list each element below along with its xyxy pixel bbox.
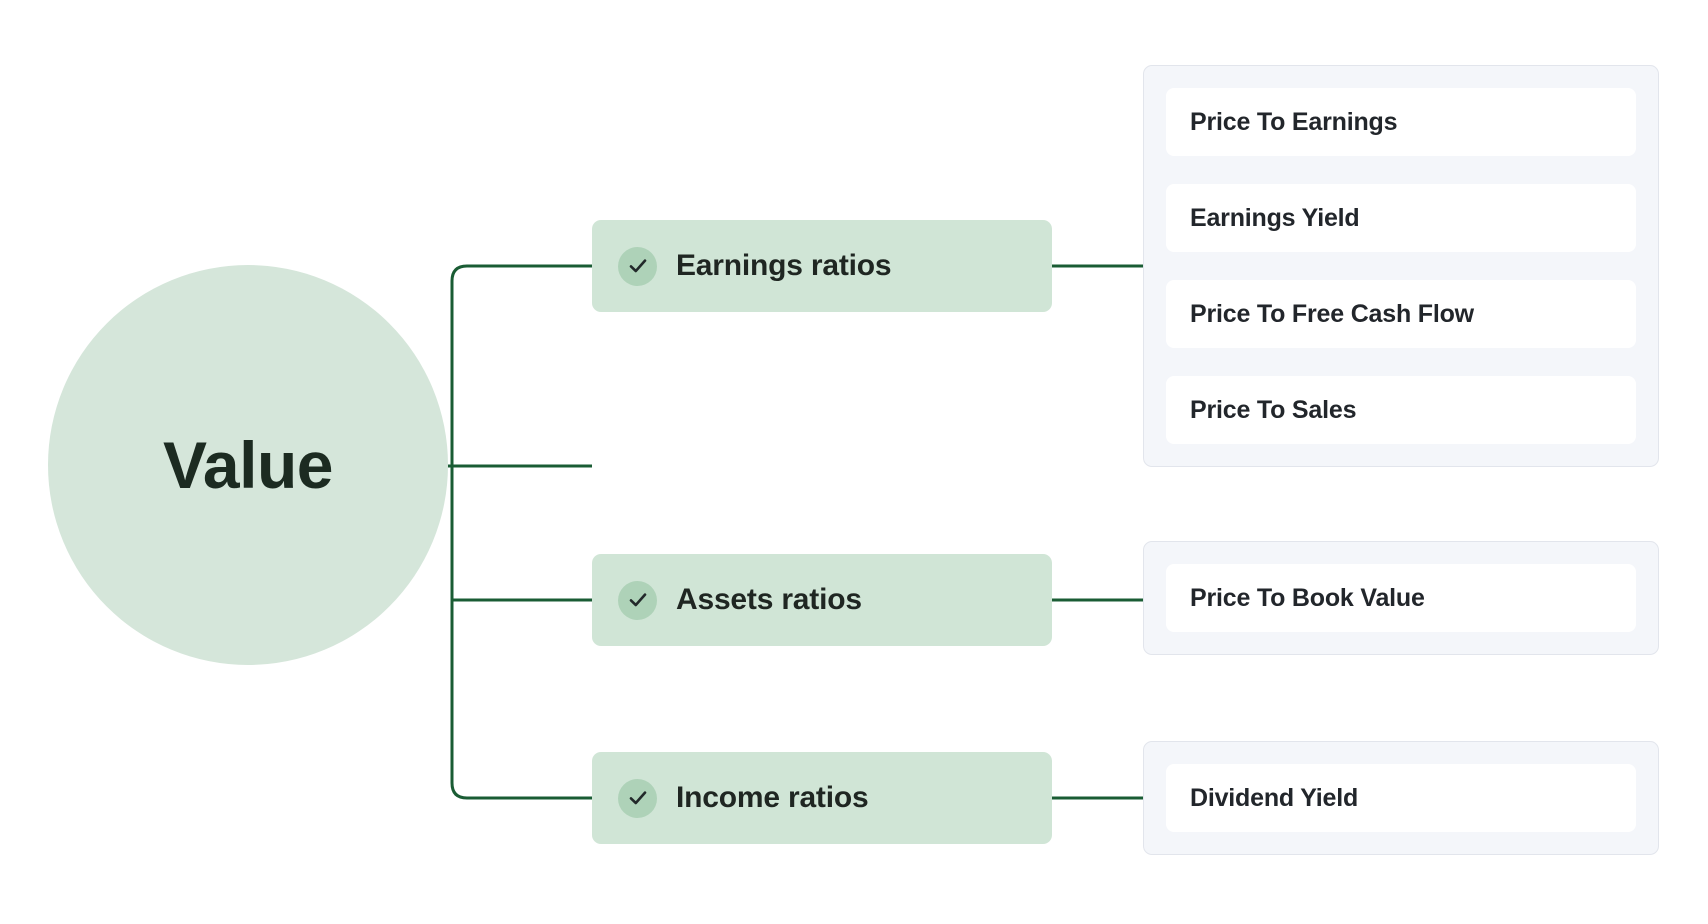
root-node-value[interactable]: Value bbox=[48, 265, 448, 665]
check-circle-icon bbox=[618, 247, 657, 286]
root-node-label: Value bbox=[163, 432, 333, 498]
mind-map-canvas: Value Earnings ratios Assets ratios Inco… bbox=[0, 0, 1708, 924]
leaf-card[interactable]: Price To Earnings bbox=[1166, 88, 1636, 156]
branch-node-label: Income ratios bbox=[676, 781, 868, 815]
check-circle-icon bbox=[618, 779, 657, 818]
leaf-panel-assets-ratios: Price To Book Value bbox=[1143, 541, 1659, 655]
leaf-card[interactable]: Dividend Yield bbox=[1166, 764, 1636, 832]
branch-node-label: Earnings ratios bbox=[676, 249, 891, 283]
branch-node-earnings-ratios[interactable]: Earnings ratios bbox=[592, 220, 1052, 312]
check-circle-icon bbox=[618, 581, 657, 620]
leaf-card-label: Price To Free Cash Flow bbox=[1190, 300, 1474, 329]
leaf-card-label: Earnings Yield bbox=[1190, 204, 1359, 233]
leaf-card[interactable]: Earnings Yield bbox=[1166, 184, 1636, 252]
leaf-card-label: Price To Earnings bbox=[1190, 108, 1397, 137]
leaf-card[interactable]: Price To Book Value bbox=[1166, 564, 1636, 632]
leaf-card-label: Price To Sales bbox=[1190, 396, 1356, 425]
leaf-card-label: Price To Book Value bbox=[1190, 584, 1425, 613]
leaf-card[interactable]: Price To Sales bbox=[1166, 376, 1636, 444]
leaf-card[interactable]: Price To Free Cash Flow bbox=[1166, 280, 1636, 348]
leaf-panel-income-ratios: Dividend Yield bbox=[1143, 741, 1659, 855]
branch-node-income-ratios[interactable]: Income ratios bbox=[592, 752, 1052, 844]
leaf-panel-earnings-ratios: Price To Earnings Earnings Yield Price T… bbox=[1143, 65, 1659, 467]
branch-node-assets-ratios[interactable]: Assets ratios bbox=[592, 554, 1052, 646]
leaf-card-label: Dividend Yield bbox=[1190, 784, 1358, 813]
branch-node-label: Assets ratios bbox=[676, 583, 862, 617]
